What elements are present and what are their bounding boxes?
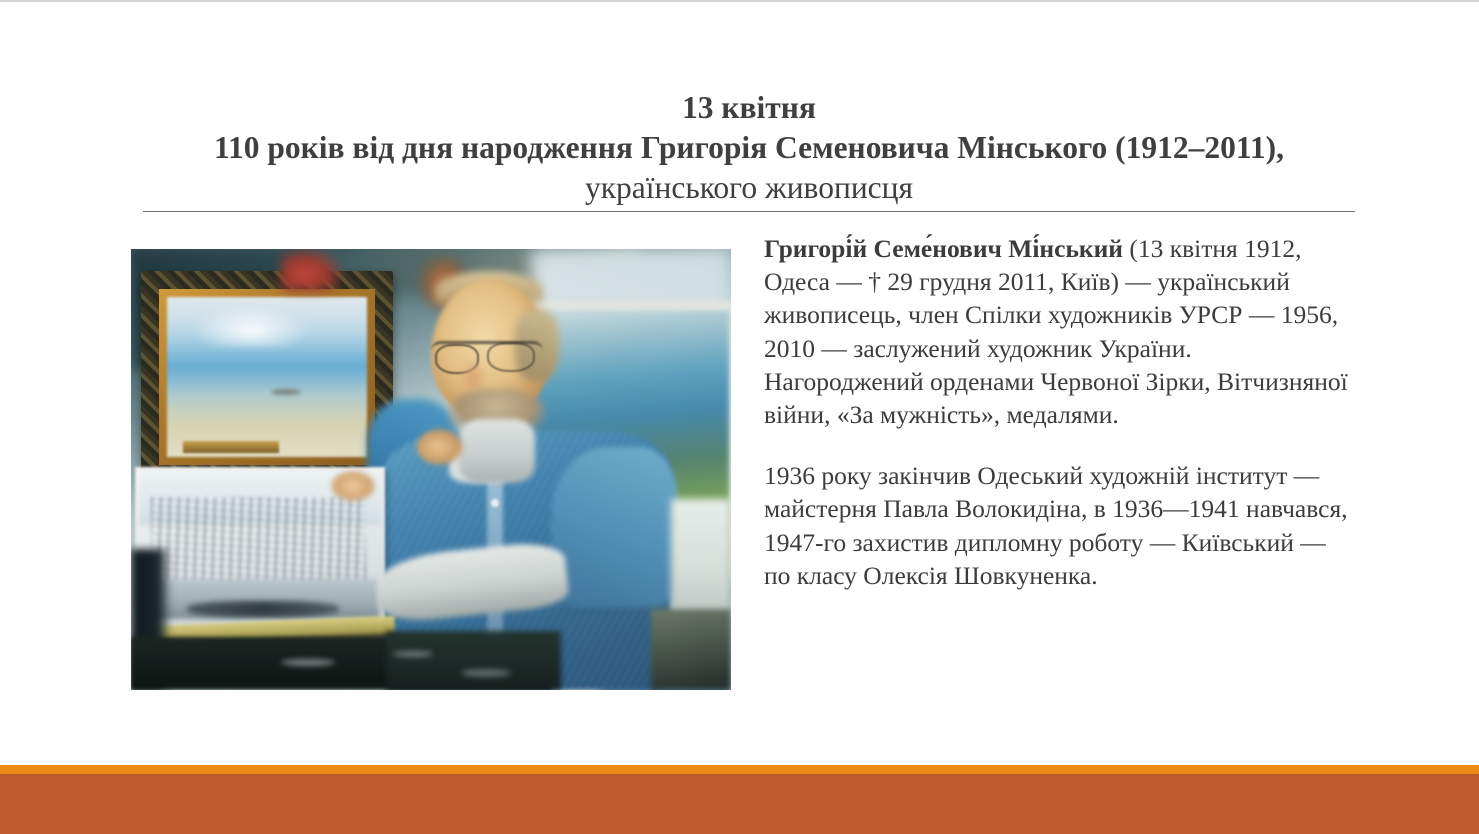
title-line-subject: 110 років від дня народження Григорія Се… [143, 128, 1355, 208]
page-title: 13 квітня 110 років від дня народження Г… [143, 88, 1355, 208]
seascape-cloud [191, 305, 311, 347]
biography-text: Григорі́й Семе́нович Мі́нський (13 квітн… [764, 232, 1350, 592]
photo-canvas [131, 249, 731, 690]
jacket-button-1 [491, 499, 499, 507]
biography-paragraph-2: 1936 року закінчив Одеський художній інс… [764, 459, 1350, 592]
artist-lower-hand [331, 471, 375, 501]
footer-band [0, 774, 1479, 834]
foreground-highlight-1 [281, 659, 335, 666]
seascape-brush-mark [271, 389, 301, 395]
footer-accent-stripe [0, 765, 1479, 774]
title-subject-normal: українського живописця [585, 170, 913, 205]
photo-dark-right-foreground [386, 631, 561, 690]
foreground-highlight-3 [461, 669, 511, 677]
sketch-shoreline-band [187, 601, 339, 617]
artist-right-hand [417, 429, 463, 465]
picture-frame-plaque [183, 441, 279, 453]
photo-right-dark-panel [651, 609, 731, 690]
artist-full-name: Григорі́й Семе́нович Мі́нський [764, 234, 1123, 263]
eyeglass-lens-right [487, 342, 535, 372]
biography-paragraph-1-rest: (13 квітня 1912, Одеса — † 29 грудня 201… [764, 234, 1348, 429]
sketch-pencil-marks [151, 497, 366, 583]
artist-nose [461, 359, 487, 391]
red-flower-blur [281, 249, 341, 291]
slide-canvas: 13 квітня 110 років від дня народження Г… [0, 0, 1479, 834]
photo-right-pale-panel [671, 499, 731, 619]
top-rule [0, 0, 1479, 2]
artist-photo [131, 249, 731, 690]
title-subject-bold: 110 років від дня народження Григорія Се… [214, 130, 1284, 165]
title-line-date: 13 квітня [143, 88, 1355, 128]
biography-paragraph-1: Григорі́й Семе́нович Мі́нський (13 квітн… [764, 232, 1350, 431]
artist-scarf [459, 419, 535, 483]
artist-right-shoulder [551, 447, 677, 607]
title-divider [143, 211, 1355, 212]
foreground-highlight-2 [393, 651, 433, 657]
